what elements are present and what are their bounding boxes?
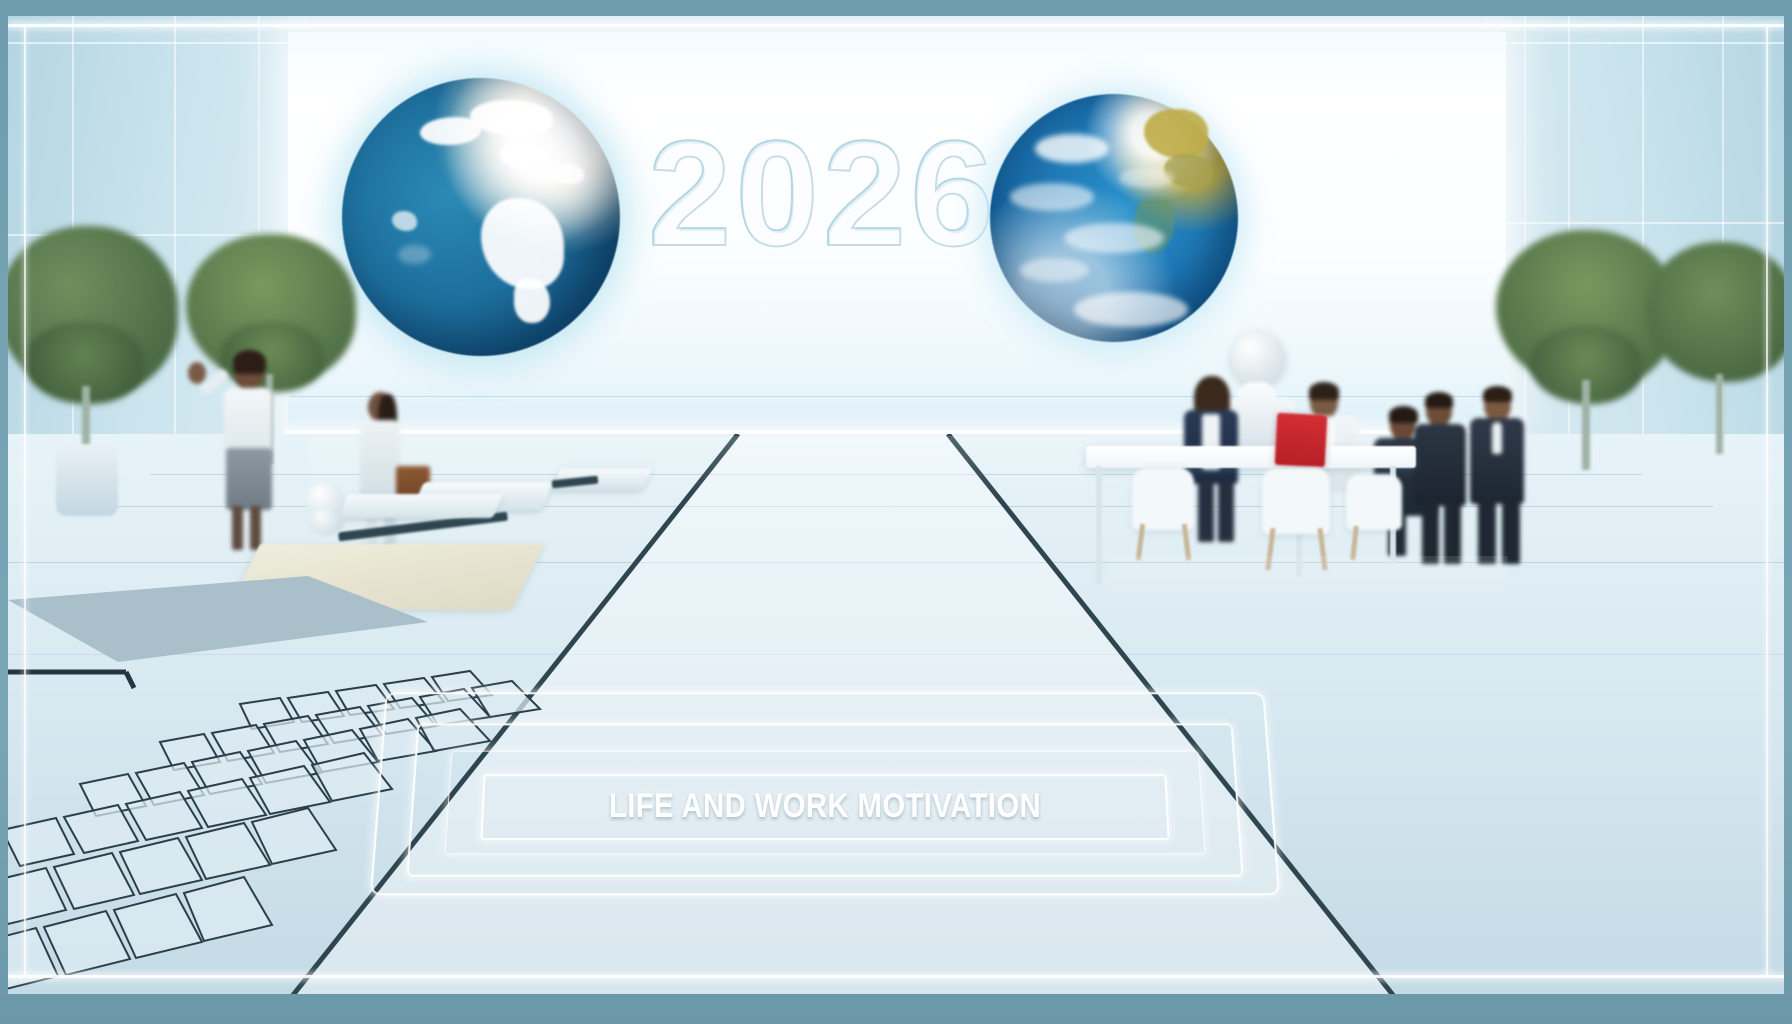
scene-root: 2026 bbox=[0, 0, 1792, 1024]
frame-light-left bbox=[24, 26, 26, 976]
frame-light-top bbox=[8, 24, 1784, 27]
frame-light-right bbox=[1766, 26, 1768, 976]
frame-lights bbox=[8, 14, 1784, 996]
frame-light-bottom bbox=[8, 975, 1784, 978]
